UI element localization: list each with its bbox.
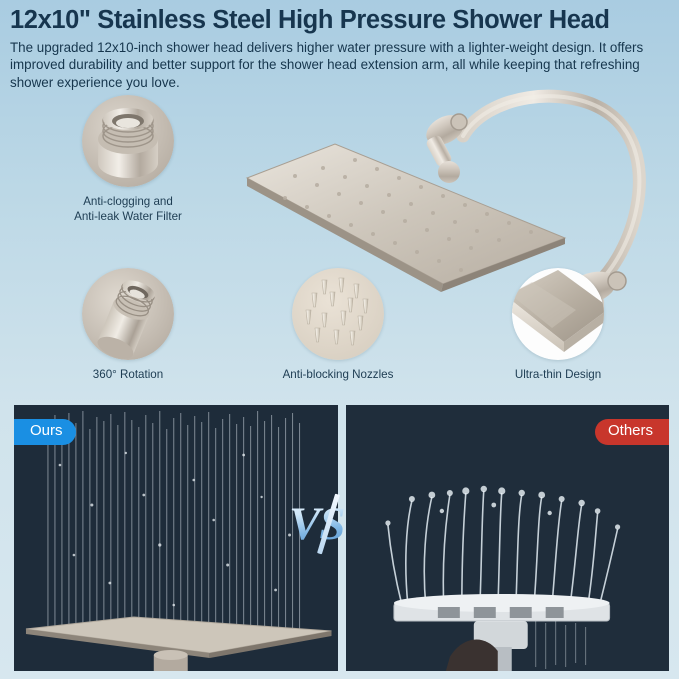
page-title: 12x10" Stainless Steel High Pressure Sho… [10,6,669,35]
comparison-panel-others: Others [346,405,670,671]
feature-360-rotation: 360° Rotation [33,268,223,382]
swivel-ball-joint-icon [82,268,174,360]
feature-ultra-thin-design: Ultra-thin Design [463,268,653,382]
thin-edge-corner-icon [512,268,604,360]
feature-label: Ultra-thin Design [463,367,653,382]
threaded-water-filter-icon [82,95,174,187]
feature-anti-blocking-nozzles: Anti-blocking Nozzles [243,268,433,382]
status-badge-ours: Ours [14,419,76,445]
feature-label: Anti-blocking Nozzles [243,367,433,382]
page-description: The upgraded 12x10-inch shower head deli… [10,39,669,92]
feature-anti-clogging-filter: Anti-clogging and Anti-leak Water Filter [33,95,223,225]
silicone-nozzles-icon [292,268,384,360]
feature-label: Anti-clogging and Anti-leak Water Filter [33,194,223,225]
feature-label: 360° Rotation [33,367,223,382]
product-infographic: 12x10" Stainless Steel High Pressure Sho… [0,0,679,679]
status-badge-others: Others [595,419,669,445]
header: 12x10" Stainless Steel High Pressure Sho… [0,0,679,92]
scattered-jets-image [346,405,670,671]
